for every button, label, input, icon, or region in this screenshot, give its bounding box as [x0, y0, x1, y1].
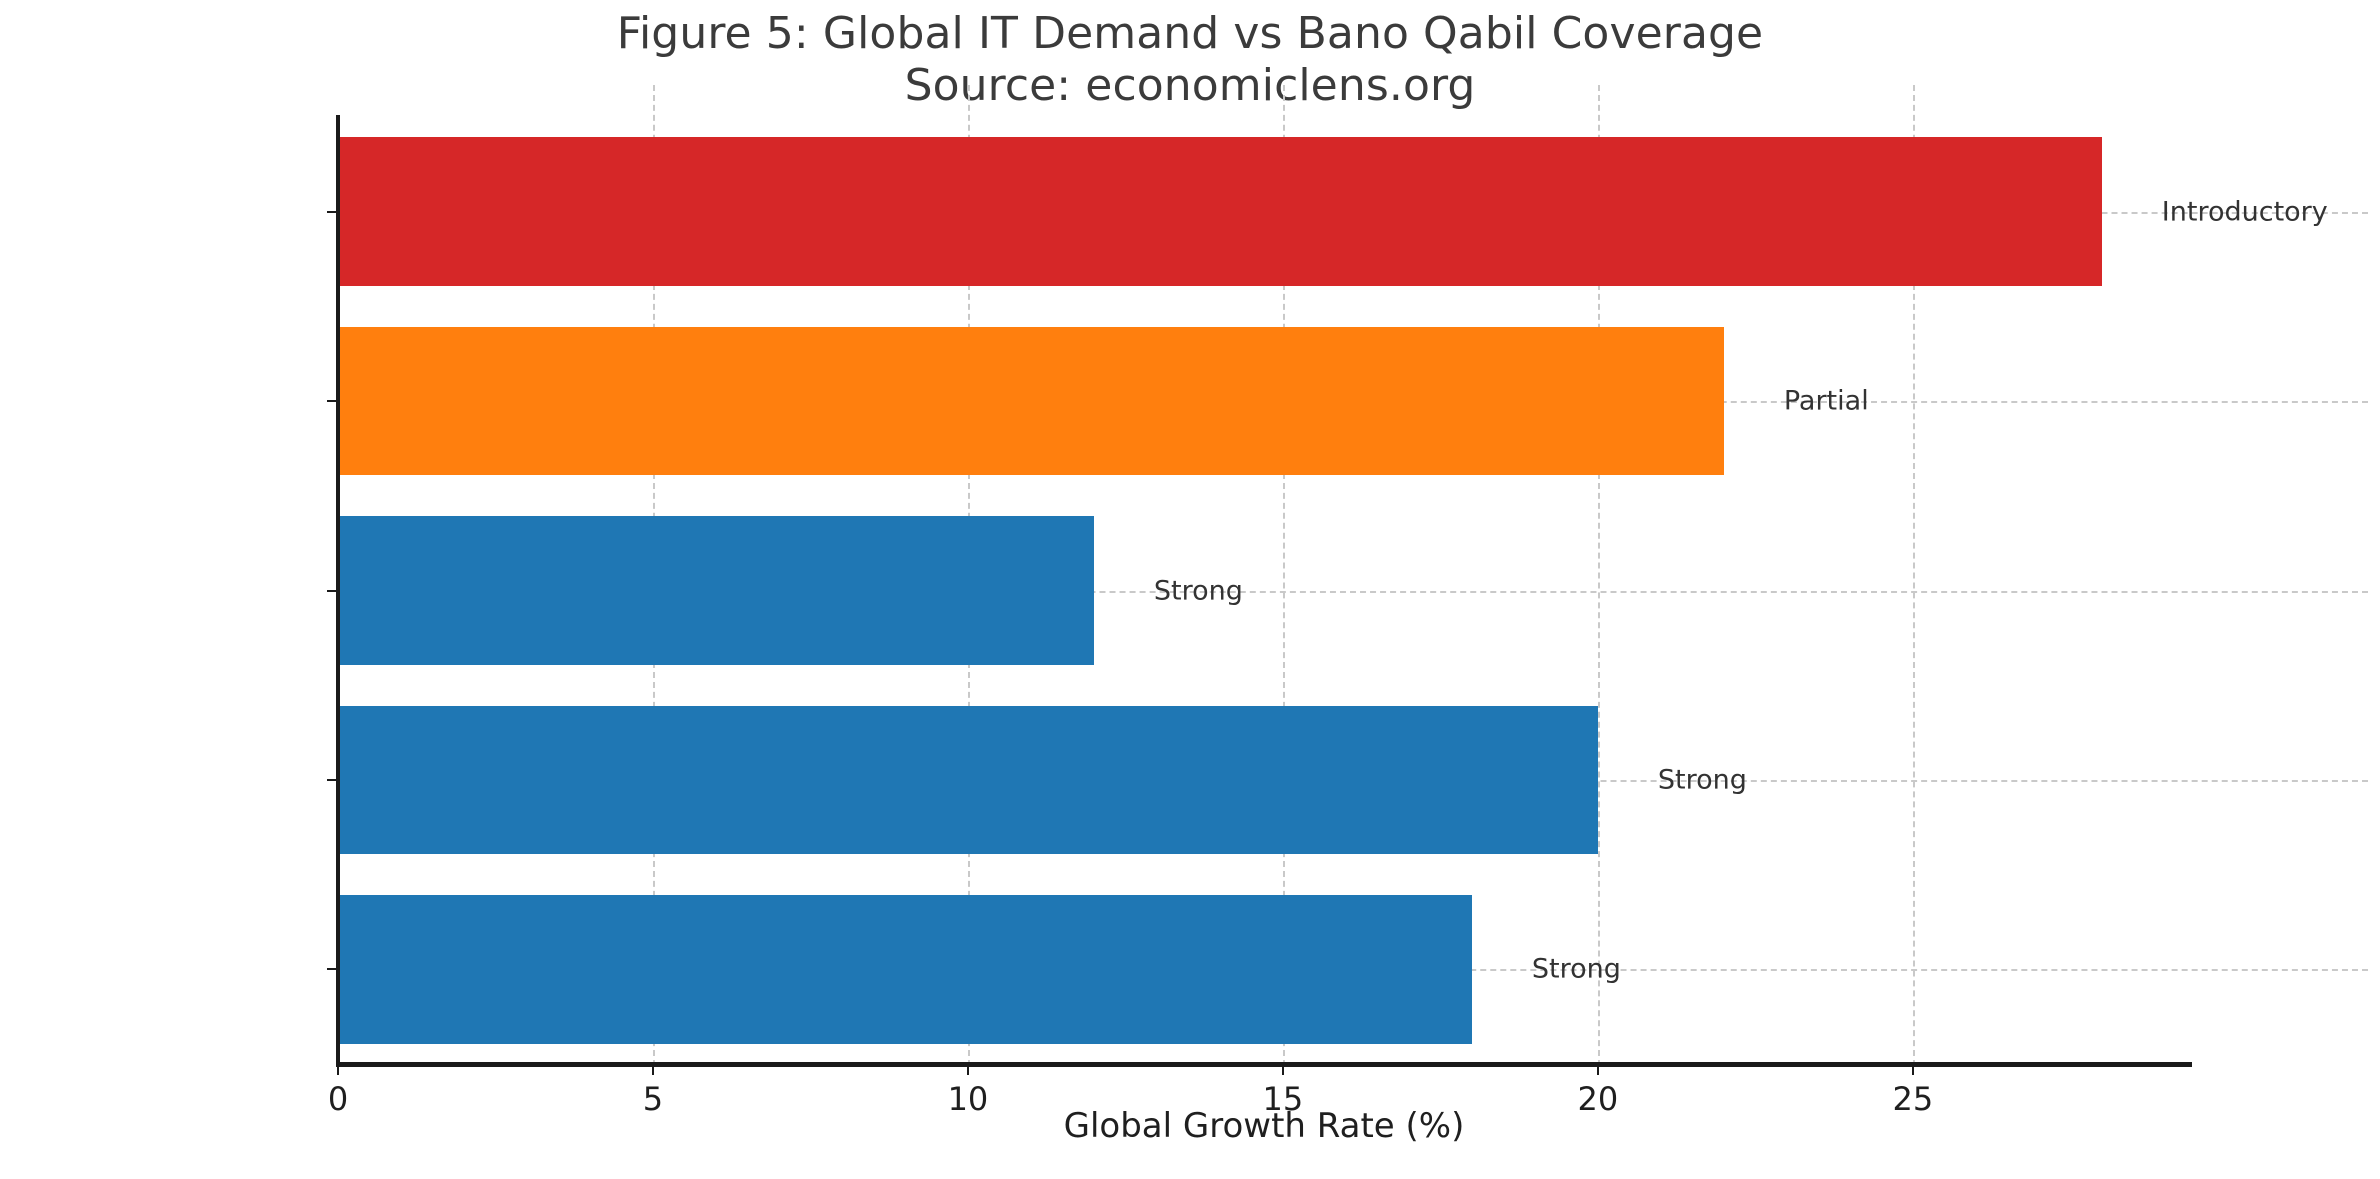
chart-subtitle: Source: economiclens.org — [0, 60, 2380, 112]
plot-area: 0510152025 AI/Data SkillsCloud Computing… — [338, 117, 2190, 1064]
coverage-annotation: Strong — [1532, 954, 1621, 985]
x-axis-label: Global Growth Rate (%) — [338, 1106, 2190, 1146]
chart-title-block: Figure 5: Global IT Demand vs Bano Qabil… — [0, 8, 2380, 112]
bar[interactable] — [338, 706, 1598, 855]
coverage-annotation: Introductory — [2162, 196, 2328, 227]
coverage-annotation: Strong — [1658, 764, 1747, 795]
y-axis-spine — [336, 115, 340, 1066]
bar[interactable] — [338, 327, 1724, 476]
coverage-annotation: Strong — [1154, 575, 1243, 606]
bar[interactable] — [338, 516, 1094, 665]
coverage-annotation: Partial — [1784, 386, 1869, 417]
x-axis-spine — [336, 1062, 2192, 1067]
figure-canvas: Figure 5: Global IT Demand vs Bano Qabil… — [0, 0, 2380, 1179]
bar[interactable] — [338, 137, 2102, 286]
bar[interactable] — [338, 895, 1472, 1044]
chart-title: Figure 5: Global IT Demand vs Bano Qabil… — [0, 8, 2380, 60]
